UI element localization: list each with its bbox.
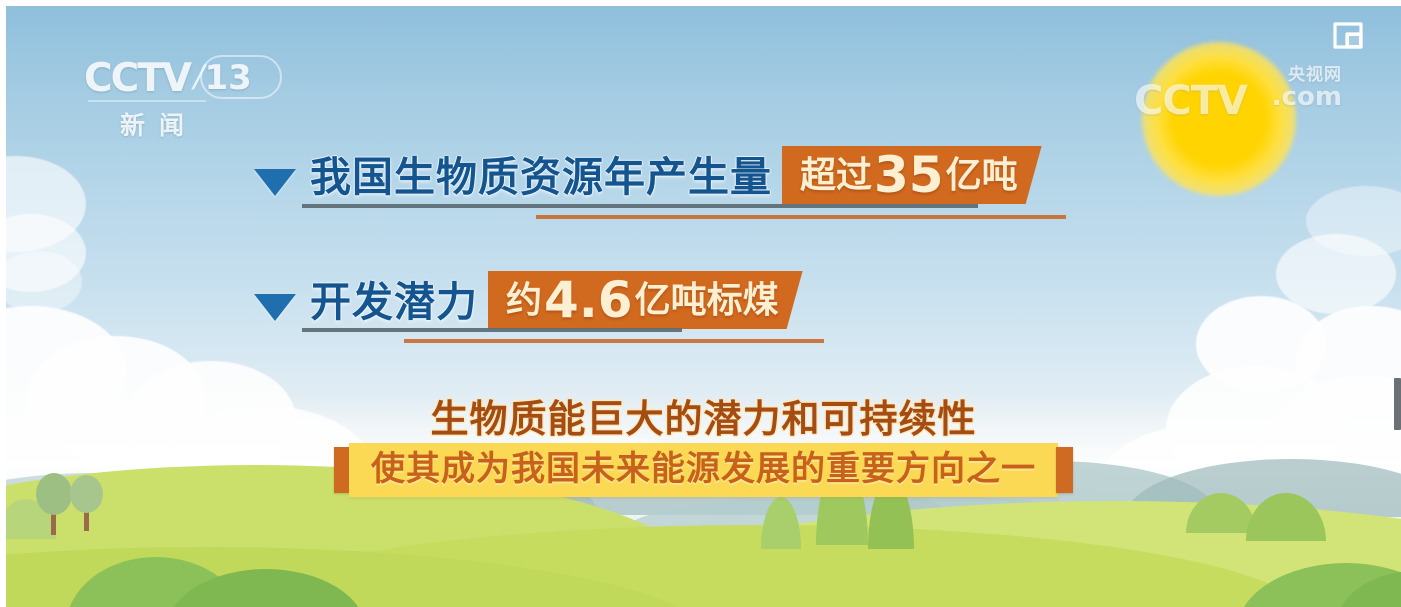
statement-band-wrapper: 使其成为我国未来能源发展的重要方向之一 [6, 443, 1401, 497]
badge-prefix-1: 超过 [800, 157, 872, 193]
badge-suffix-2: 亿吨标煤 [635, 282, 779, 318]
headline-rule-dark-2 [302, 328, 682, 332]
infographic-overlay: 我国生物质资源年产生量 超过 35 亿吨 开发潜力 约 4.6 亿吨标煤 [6, 6, 1401, 607]
value-badge-1: 超过 35 亿吨 [782, 146, 1042, 204]
value-badge-2: 约 4.6 亿吨标煤 [488, 271, 803, 329]
video-player-frame[interactable]: CCTV 央视网 .com CCTV / 13 新闻 [6, 6, 1401, 607]
screenshot-root: CCTV 央视网 .com CCTV / 13 新闻 [0, 0, 1401, 607]
headline-label-2: 开发潜力 [310, 282, 478, 331]
triangle-down-marker-icon [254, 294, 296, 321]
headline-label-1: 我国生物质资源年产生量 [310, 157, 772, 206]
badge-prefix-2: 约 [506, 282, 542, 318]
headline-rule-orange-1 [536, 215, 1066, 219]
statement-line-1: 生物质能巨大的潜力和可持续性 [6, 388, 1401, 443]
headline-rule-dark-1 [302, 204, 978, 208]
headline-row-2: 开发潜力 约 4.6 亿吨标煤 [254, 271, 803, 331]
statement-line-2: 使其成为我国未来能源发展的重要方向之一 [371, 452, 1036, 486]
badge-value-1: 35 [872, 150, 946, 200]
band-bracket-right [1056, 447, 1073, 493]
statement-band: 使其成为我国未来能源发展的重要方向之一 [349, 443, 1058, 497]
badge-suffix-1: 亿吨 [946, 157, 1018, 193]
triangle-down-marker-icon [254, 169, 296, 196]
badge-value-2: 4.6 [542, 275, 635, 325]
headline-row-1: 我国生物质资源年产生量 超过 35 亿吨 [254, 146, 1042, 206]
headline-rule-orange-2 [404, 339, 824, 343]
vertical-scrollbar-thumb[interactable] [1394, 378, 1401, 430]
